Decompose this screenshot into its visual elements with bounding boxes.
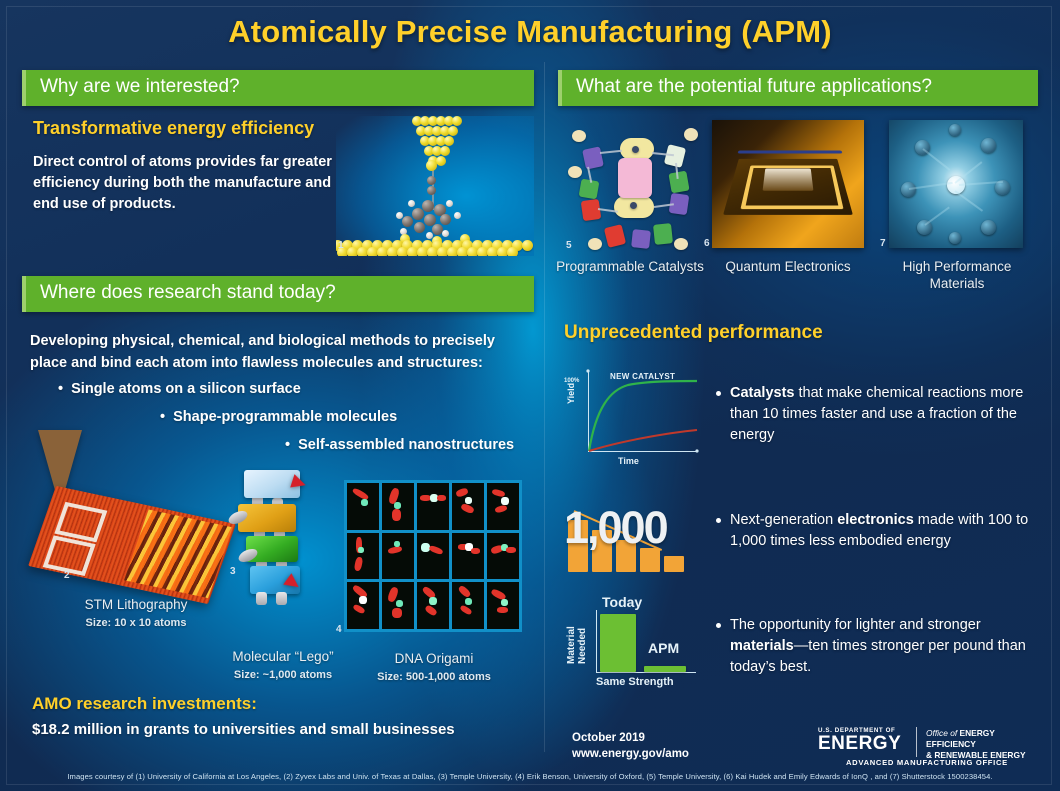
bar-apm [644, 666, 686, 672]
why-body-text: Direct control of atoms provides far gre… [33, 152, 333, 215]
bullet-dot-2 [716, 518, 721, 523]
dna-cell [347, 533, 379, 580]
dna-cell [452, 483, 484, 530]
dna-cell [452, 582, 484, 629]
bar-label-apm: APM [648, 640, 679, 656]
figure-number-4: 4 [336, 624, 342, 635]
research-bullet-1: • Single atoms on a silicon surface [58, 381, 301, 397]
image-high-performance-materials [889, 120, 1023, 248]
footer-date: October 2019 [572, 730, 689, 746]
performance-bullet-2: Next-generation electronics made with 10… [730, 510, 1030, 552]
dna-cell [347, 483, 379, 530]
bar-today [600, 614, 636, 672]
figure-dna-origami [344, 480, 522, 632]
x-axis-label-same-strength: Same Strength [596, 676, 674, 688]
bullet-dot-3 [716, 623, 721, 628]
x-axis [596, 672, 696, 673]
figure-number-5: 5 [566, 240, 572, 251]
dna-cell [382, 533, 414, 580]
section-header-applications: What are the potential future applicatio… [558, 70, 1038, 106]
footer-date-url: October 2019 www.energy.gov/amo [572, 730, 689, 762]
dna-cell [417, 582, 449, 629]
dna-cell [487, 533, 519, 580]
figure-number-2: 2 [64, 570, 70, 581]
image-programmable-catalysts [566, 118, 702, 254]
big-number-label: 1,000 [564, 502, 667, 554]
footer-url[interactable]: www.energy.gov/amo [572, 746, 689, 762]
dna-cell [347, 582, 379, 629]
dna-cell [382, 582, 414, 629]
research-bullet-2: • Shape-programmable molecules [160, 409, 397, 425]
figure-number-3: 3 [230, 566, 236, 577]
figure-number-6: 6 [704, 238, 710, 249]
caption-high-performance-materials: High Performance Materials [880, 258, 1034, 292]
performance-bullet-1: Catalysts that make chemical reactions m… [730, 383, 1030, 446]
why-subhead: Transformative energy efficiency [33, 118, 314, 139]
image-quantum-electronics [712, 120, 864, 248]
performance-subhead: Unprecedented performance [564, 322, 823, 344]
chart-material-needed: MaterialNeeded Today APM Same Strength [566, 600, 714, 696]
figure-molecular-lego [228, 466, 338, 626]
silicon-surface [28, 486, 236, 604]
doe-amo-label: ADVANCED MANUFACTURING OFFICE [846, 758, 1008, 767]
column-divider [544, 62, 545, 752]
bullet-dot-1 [716, 391, 721, 396]
research-bullet-3: • Self-assembled nanostructures [285, 437, 514, 453]
figure-number-1: 1 [338, 240, 344, 251]
dna-cell [487, 483, 519, 530]
section-header-why: Why are we interested? [22, 70, 534, 106]
energy-bar-5 [664, 556, 684, 572]
image-credits: Images courtesy of (1) University of Cal… [0, 772, 1060, 781]
amo-investments-body: $18.2 million in grants to universities … [32, 719, 455, 740]
figure-stm-tip-molecule [336, 116, 534, 256]
stm-topography [124, 510, 233, 599]
poster-canvas: Atomically Precise Manufacturing (APM) W… [0, 0, 1060, 791]
research-intro-text: Developing physical, chemical, and biolo… [30, 330, 530, 374]
amo-investments-head: AMO research investments: [32, 694, 257, 714]
caption-molecular-lego: Molecular “Lego” Size: ~1,000 atoms [198, 648, 368, 684]
dna-cell [382, 483, 414, 530]
bar-label-today: Today [602, 594, 642, 610]
doe-office-label: Office of ENERGY EFFICIENCY & RENEWABLE … [926, 728, 1040, 761]
caption-dna-origami: DNA Origami Size: 500-1,000 atoms [352, 650, 516, 686]
chart-curves [566, 368, 706, 472]
figure-number-7: 7 [880, 238, 886, 249]
y-axis [596, 610, 597, 672]
logo-divider [916, 727, 917, 757]
caption-quantum-electronics: Quantum Electronics [700, 258, 876, 275]
section-header-research: Where does research stand today? [22, 276, 534, 312]
chart-catalyst-yield: 100% Yield Time NEW CATALYST [566, 368, 706, 472]
performance-bullet-3: The opportunity for lighter and stronger… [730, 615, 1040, 678]
dna-cell [417, 483, 449, 530]
dna-cell [417, 533, 449, 580]
dna-cell [487, 582, 519, 629]
caption-stm-lithography: STM Lithography Size: 10 x 10 atoms [48, 596, 224, 632]
figure-stm-lithography [30, 430, 235, 595]
doe-logo: U.S. DEPARTMENT OF ENERGY Office of ENER… [818, 727, 1040, 767]
chart-embodied-energy: 1,000 [566, 500, 694, 572]
caption-programmable-catalysts: Programmable Catalysts [550, 258, 710, 275]
page-title: Atomically Precise Manufacturing (APM) [0, 14, 1060, 50]
gold-tip-icon [408, 116, 466, 156]
y-axis-label-material: MaterialNeeded [566, 626, 588, 664]
dna-cell [452, 533, 484, 580]
